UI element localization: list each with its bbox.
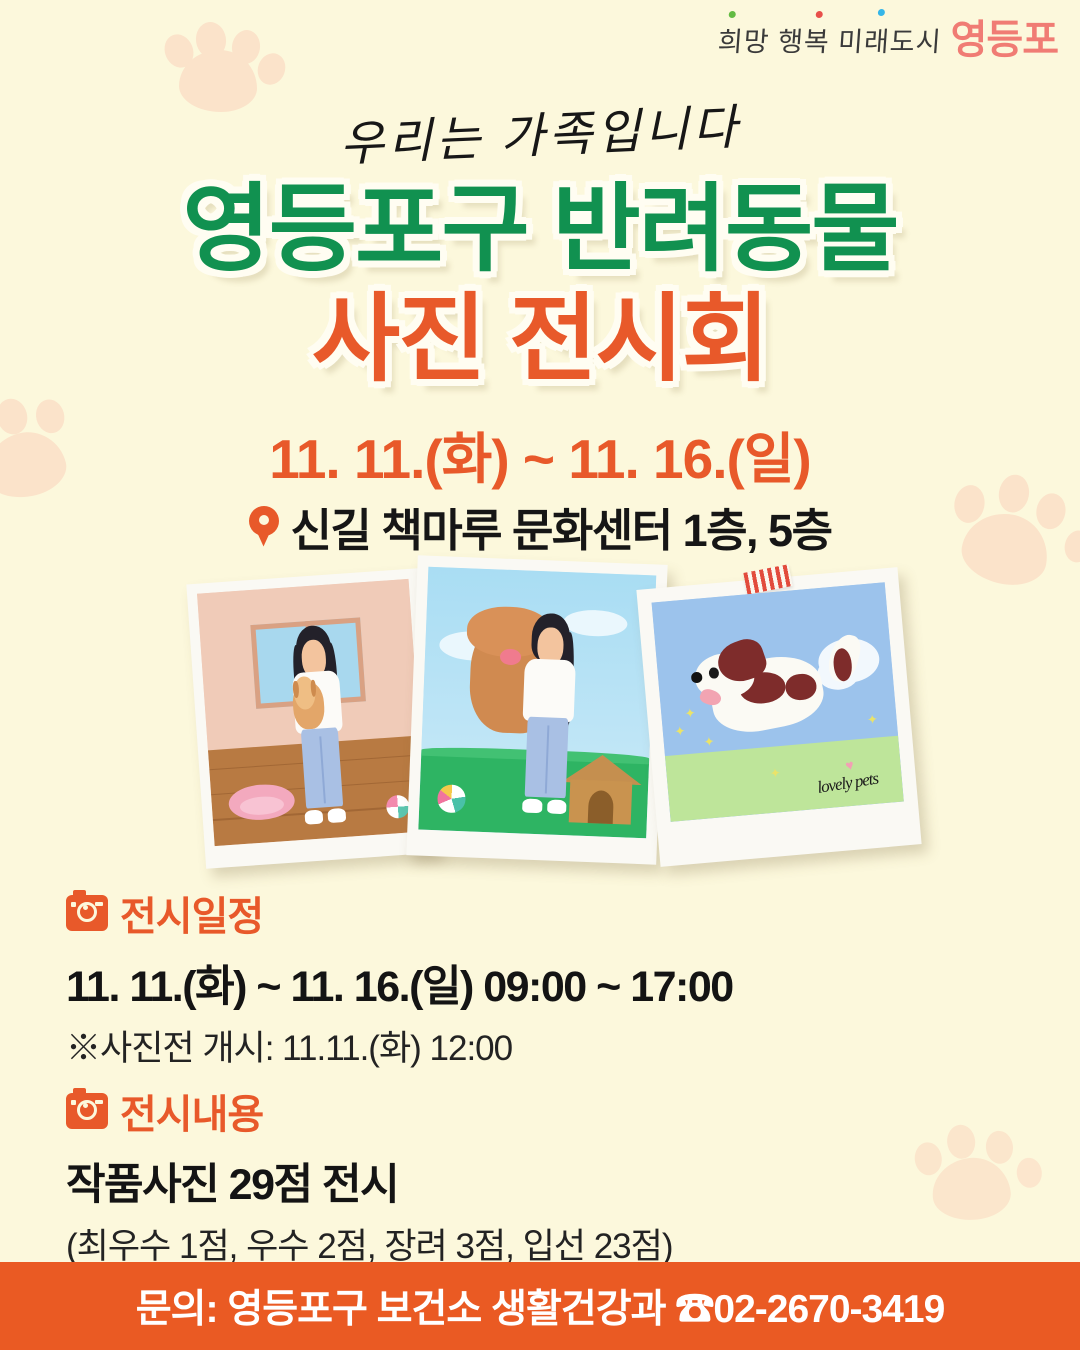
venue-row: 신길 책마루 문화센터 1층, 5층 [0,494,1080,559]
content-primary-line: 작품사진 29점 전시 [66,1150,672,1212]
map-pin-icon [249,506,279,548]
photo-card-image [418,567,656,839]
contact-footer-bar: 문의: 영등포구 보건소 생활건강과 ☎02-2670-3419 [0,1262,1080,1350]
section-header: 전시일정 [66,884,733,942]
page-title-line1: 영등포구 반려동물 [0,182,1080,278]
photo-collage: ✦ ✦ ✦ ✦ ✦ ♥ lovely pets [0,560,1080,890]
photo-card [406,555,667,864]
logo-mark-text: 영등포 [951,21,1058,59]
section-header: 전시내용 [66,1082,672,1140]
camera-icon [66,1093,108,1129]
section-schedule: 전시일정 11. 11.(화) ~ 11. 16.(일) 09:00 ~ 17:… [66,884,733,1071]
section-title: 전시일정 [120,884,263,942]
venue-text: 신길 책마루 문화센터 1층, 5층 [291,494,832,559]
poster-root: 희망 행복 미래도시 영등포 우리는 가족입니다 영등포구 반려동물 사진 전시… [0,0,1080,1350]
brand-logo: 희망 행복 미래도시 영등포 [718,20,1058,59]
photo-card-image [197,579,426,846]
camera-icon [66,895,108,931]
photo-card [186,568,437,868]
schedule-primary-line: 11. 11.(화) ~ 11. 16.(일) 09:00 ~ 17:00 [66,952,733,1014]
section-content: 전시내용 작품사진 29점 전시 (최우수 1점, 우수 2점, 장려 3점, … [66,1082,672,1269]
schedule-note-line: ※사진전 개시: 11.11.(화) 12:00 [66,1020,733,1071]
logo-dot-blue [878,9,885,16]
event-date-range: 11. 11.(화) ~ 11. 16.(일) [0,414,1080,494]
photo-card-image: ✦ ✦ ✦ ✦ ✦ ♥ lovely pets [652,582,904,822]
script-tagline: 우리는 가족입니다 [0,72,1080,189]
logo-dot-red [815,11,822,18]
contact-text: 문의: 영등포구 보건소 생활건강과 ☎02-2670-3419 [136,1278,945,1334]
page-title-line2: 사진 전시회 [0,292,1080,388]
paw-print-icon [899,1108,1061,1248]
logo-slogan-text: 희망 행복 미래도시 [717,27,943,57]
logo-dot-green [728,11,735,18]
logo-slogan: 희망 행복 미래도시 [716,20,942,59]
section-title: 전시내용 [120,1082,263,1140]
photo-card: ✦ ✦ ✦ ✦ ✦ ♥ lovely pets [636,567,921,867]
